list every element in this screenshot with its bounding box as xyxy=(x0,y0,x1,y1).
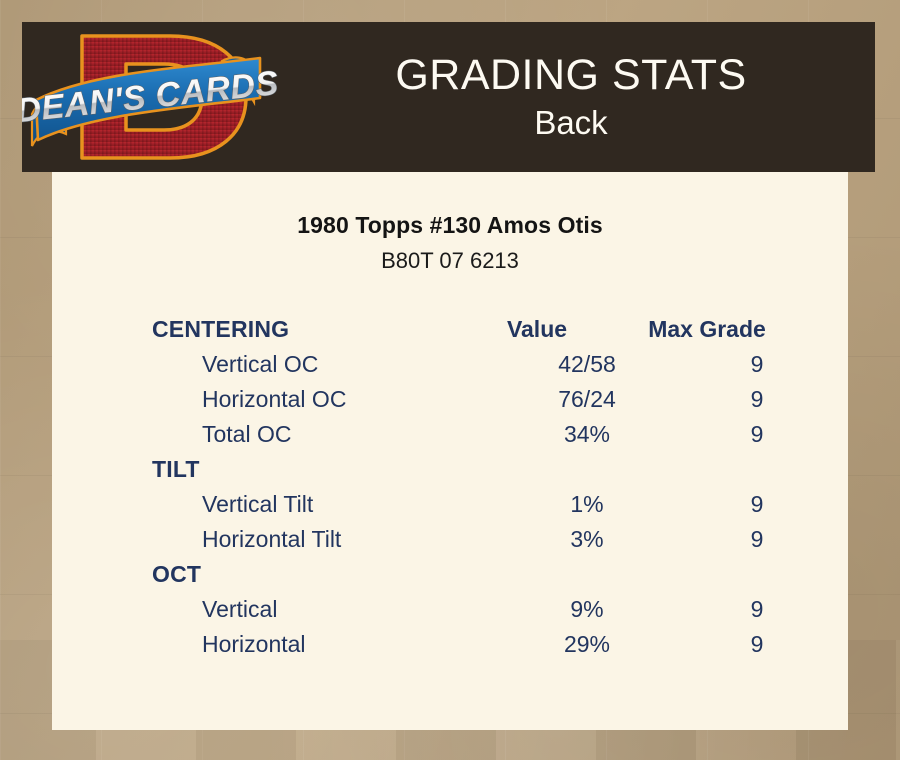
section-header-oct: OCT xyxy=(152,561,848,596)
stat-max-grade: 9 xyxy=(672,491,842,518)
content-panel: 1980 Topps #130 Amos Otis B80T 07 6213 C… xyxy=(52,172,848,730)
stat-label: Vertical xyxy=(152,596,502,623)
stat-value: 42/58 xyxy=(502,351,672,378)
table-row: Vertical Tilt 1% 9 xyxy=(152,491,848,526)
stat-label: Horizontal xyxy=(152,631,502,658)
section-name: CENTERING xyxy=(152,316,452,343)
table-row: Total OC 34% 9 xyxy=(152,421,848,456)
stat-value: 1% xyxy=(502,491,672,518)
stat-max-grade: 9 xyxy=(672,526,842,553)
grading-stats-table: CENTERING Value Max Grade Vertical OC 42… xyxy=(52,316,848,666)
header-bar: DEAN'S CARDS GRADING STATS Back xyxy=(22,22,875,172)
stat-max-grade: 9 xyxy=(672,421,842,448)
deans-cards-logo: DEAN'S CARDS xyxy=(22,22,287,172)
column-header-value: Value xyxy=(452,316,622,343)
section-name: OCT xyxy=(152,561,452,588)
stat-max-grade: 9 xyxy=(672,351,842,378)
stat-label: Horizontal Tilt xyxy=(152,526,502,553)
table-row: Horizontal 29% 9 xyxy=(152,631,848,666)
stat-label: Vertical Tilt xyxy=(152,491,502,518)
stat-value: 29% xyxy=(502,631,672,658)
stat-value: 9% xyxy=(502,596,672,623)
card-id: B80T 07 6213 xyxy=(52,248,848,274)
table-row: Vertical OC 42/58 9 xyxy=(152,351,848,386)
page-subtitle: Back xyxy=(287,102,855,144)
stat-label: Vertical OC xyxy=(152,351,502,378)
card-title: 1980 Topps #130 Amos Otis xyxy=(52,212,848,239)
stat-value: 34% xyxy=(502,421,672,448)
section-header-centering: CENTERING Value Max Grade xyxy=(152,316,848,351)
stat-value: 76/24 xyxy=(502,386,672,413)
stat-max-grade: 9 xyxy=(672,596,842,623)
table-row: Horizontal Tilt 3% 9 xyxy=(152,526,848,561)
header-titles: GRADING STATS Back xyxy=(287,50,875,144)
table-row: Vertical 9% 9 xyxy=(152,596,848,631)
column-header-max-grade: Max Grade xyxy=(622,316,792,343)
page-title: GRADING STATS xyxy=(287,50,855,100)
stat-label: Horizontal OC xyxy=(152,386,502,413)
section-header-tilt: TILT xyxy=(152,456,848,491)
table-row: Horizontal OC 76/24 9 xyxy=(152,386,848,421)
stat-label: Total OC xyxy=(152,421,502,448)
stat-max-grade: 9 xyxy=(672,631,842,658)
grading-stats-page: DEAN'S CARDS GRADING STATS Back 1980 Top… xyxy=(0,0,900,760)
stat-max-grade: 9 xyxy=(672,386,842,413)
stat-value: 3% xyxy=(502,526,672,553)
section-name: TILT xyxy=(152,456,452,483)
